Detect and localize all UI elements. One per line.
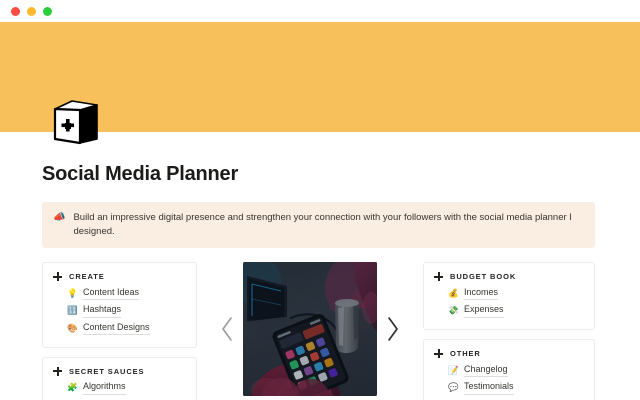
megaphone-icon: 📣 (53, 211, 65, 225)
window-minimize-button[interactable] (27, 7, 36, 16)
list-item[interactable]: 💰 Incomes (434, 284, 584, 302)
card-other-title: OTHER (450, 349, 481, 358)
list-item-label[interactable]: Expenses (464, 303, 504, 318)
card-budget-book: BUDGET BOOK 💰 Incomes 💸 Expenses (423, 262, 595, 330)
window-maximize-button[interactable] (43, 7, 52, 16)
list-item[interactable]: 📈 Tactics (53, 396, 186, 400)
lightbulb-icon: 💡 (67, 287, 78, 299)
hashtags-icon: 🔢 (67, 304, 78, 316)
card-secret-sauces: SECRET SAUCES 🧩 Algorithms 📈 Tactics ⏰ S… (42, 357, 197, 400)
list-item-label[interactable]: Content Ideas (83, 286, 139, 301)
card-create-title: CREATE (69, 272, 105, 281)
callout-text: Build an impressive digital presence and… (73, 211, 583, 239)
card-secret-sauces-title: SECRET SAUCES (69, 367, 144, 376)
card-budget-book-title: BUDGET BOOK (450, 272, 516, 281)
chevron-right-icon[interactable] (386, 316, 399, 342)
cube-plus-icon[interactable] (52, 98, 100, 146)
list-item-label[interactable]: Algorithms (83, 380, 126, 395)
image-carousel (205, 262, 415, 396)
middle-column (197, 262, 423, 396)
list-item[interactable]: 💸 Expenses (434, 302, 584, 320)
plus-icon[interactable] (53, 367, 62, 376)
card-other-header: OTHER (434, 349, 584, 358)
content-columns: CREATE 💡 Content Ideas 🔢 Hashtags 🎨 Cont… (42, 262, 595, 400)
card-budget-book-header: BUDGET BOOK (434, 272, 584, 281)
card-create: CREATE 💡 Content Ideas 🔢 Hashtags 🎨 Cont… (42, 262, 197, 348)
window-close-button[interactable] (11, 7, 20, 16)
list-item[interactable]: 📝 Changelog (434, 361, 584, 379)
plus-icon[interactable] (434, 349, 443, 358)
list-item[interactable]: 🎨 Content Designs (53, 319, 186, 337)
list-item[interactable]: 🧩 Algorithms (53, 379, 186, 397)
card-secret-sauces-header: SECRET SAUCES (53, 367, 186, 376)
page-content: Social Media Planner 📣 Build an impressi… (0, 160, 640, 400)
list-item-label[interactable]: Content Designs (83, 321, 150, 336)
card-other: OTHER 📝 Changelog 💬 Testimonials 🚀 Premi… (423, 339, 595, 400)
card-create-header: CREATE (53, 272, 186, 281)
callout-block: 📣 Build an impressive digital presence a… (42, 202, 595, 248)
list-item-label[interactable]: Incomes (464, 286, 498, 301)
plus-icon[interactable] (53, 272, 62, 281)
speech-bubble-icon: 💬 (448, 381, 459, 393)
plus-icon[interactable] (434, 272, 443, 281)
hands-holding-phone-photo[interactable] (243, 262, 377, 396)
palette-icon: 🎨 (67, 322, 78, 334)
list-item[interactable]: 💡 Content Ideas (53, 284, 186, 302)
right-column: BUDGET BOOK 💰 Incomes 💸 Expenses OTHER (423, 262, 595, 400)
list-item-label[interactable]: Hashtags (83, 303, 121, 318)
list-item[interactable]: 🔢 Hashtags (53, 302, 186, 320)
puzzle-icon: 🧩 (67, 381, 78, 393)
chevron-left-icon[interactable] (221, 316, 234, 342)
money-wings-icon: 💸 (448, 304, 459, 316)
list-item[interactable]: 💬 Testimonials (434, 379, 584, 397)
window-titlebar (0, 0, 640, 22)
memo-icon: 📝 (448, 364, 459, 376)
app-window: Social Media Planner 📣 Build an impressi… (0, 0, 640, 400)
page-title: Social Media Planner (42, 160, 640, 188)
money-bag-icon: 💰 (448, 287, 459, 299)
list-item[interactable]: 🚀 Premium Templates (434, 396, 584, 400)
left-column: CREATE 💡 Content Ideas 🔢 Hashtags 🎨 Cont… (42, 262, 197, 400)
list-item-label[interactable]: Testimonials (464, 380, 514, 395)
list-item-label[interactable]: Changelog (464, 363, 508, 378)
